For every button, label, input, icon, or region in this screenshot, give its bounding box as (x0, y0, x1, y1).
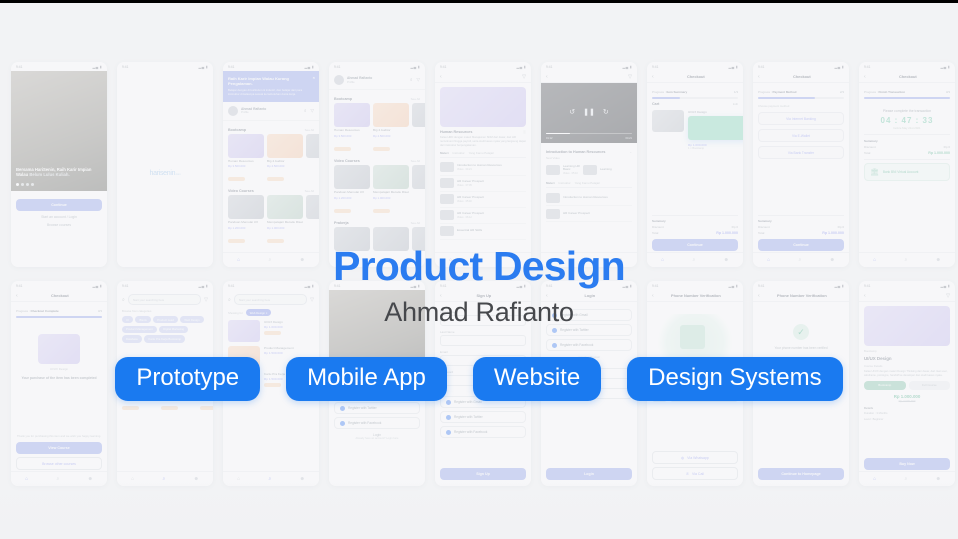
video-time-current: 01:12 (546, 137, 553, 140)
discount-label: Discount (652, 225, 664, 229)
login-link[interactable]: Start an account / Login (16, 215, 102, 219)
step-value: Checkout Complete (31, 309, 59, 313)
onboarding-hero: Bersama HariSenin, Raih Karir Impian Wal… (11, 71, 107, 191)
course-card[interactable]: Big 4 Auditor Rp 4.500.000 (267, 134, 303, 187)
video-time-total: 04:21 (626, 137, 633, 140)
chip-product-management[interactable]: Product Management (122, 326, 157, 333)
course-title: Human Resources (440, 130, 472, 134)
discount-value: Rp 0 (732, 225, 738, 229)
see-all-link[interactable]: See All (411, 221, 420, 225)
category-chip-list[interactable]: UI Bisnis Product Lead Web Design Produc… (122, 316, 208, 343)
cart-edit-link[interactable]: Edit (733, 102, 738, 106)
course-tag (228, 177, 245, 181)
course-title: Big 4 Auditor (267, 160, 303, 164)
browse-courses-button[interactable]: Browse other courses (16, 457, 102, 470)
user-name: Ahmad Rafianto (347, 76, 372, 80)
forward-10-icon[interactable]: ↻ (603, 108, 609, 116)
phone-mockup-video-player[interactable]: 9:41 ▂▄ ▮ ‹ ▽ ↺ ❚❚ ↻ 01:12 04:21 (541, 62, 637, 267)
lesson-meta: Video · 04:21 (457, 168, 502, 171)
tag-pill-design-systems[interactable]: Design Systems (627, 357, 842, 401)
nav-bar: ‹ ▽ (435, 71, 531, 83)
search-icon[interactable]: ⌕ (410, 77, 413, 83)
cart-icon[interactable]: ▽ (310, 297, 314, 303)
home-icon[interactable]: ⌂ (555, 257, 558, 263)
course-card[interactable]: Panduan Memulai UX Rp 1.200.000 (334, 165, 370, 218)
course-thumb (412, 165, 425, 189)
chip-bisnis[interactable]: Bisnis (135, 316, 150, 323)
profile-icon[interactable]: ☻ (724, 257, 729, 263)
status-bar: 9:41 ▂▄ ▮ (223, 281, 319, 290)
step-count: 1/3 (734, 90, 738, 94)
course-description: Kelas HRD dengan materi Manajemen SDM da… (440, 136, 526, 148)
caption-dim: Belum Lulus Kuliah. (29, 172, 69, 177)
course-card[interactable] (334, 227, 370, 251)
login-with-facebook-button[interactable]: Register with Facebook (546, 339, 632, 351)
chevron-left-icon[interactable]: ‹ (864, 293, 866, 299)
status-bar: 9:41 ▂▄ ▮ (541, 281, 637, 290)
chevron-left-icon[interactable]: ‹ (546, 74, 548, 80)
lesson-title: Introduction to Human Resources (457, 163, 502, 167)
tab-bar[interactable]: ⌂ ⌕ ☻ (223, 252, 319, 267)
section-title: Video Courses (334, 159, 360, 163)
profile-icon[interactable]: ☻ (618, 257, 623, 263)
tab-bar[interactable]: ⌂ ⌕ ☻ (753, 252, 849, 267)
phone-mockup-home-banner[interactable]: 9:41 ▂▄ ▮ × Raih Karir Impian Walau Kura… (223, 62, 319, 267)
course-tag (373, 209, 390, 213)
search-icon[interactable]: ⌕ (692, 257, 695, 263)
phone-mockup-checkout-countdown[interactable]: 9:41 ▂▄ ▮ ‹ Checkout Progress : Finish T… (859, 62, 955, 267)
discount-label: Discount (864, 145, 876, 149)
cart-item-title: UI/UX Design (688, 110, 743, 114)
course-card[interactable] (306, 134, 319, 187)
google-icon (552, 313, 557, 318)
lesson-item[interactable]: HR Career Prospect (546, 206, 632, 222)
continue-button[interactable]: Continue (16, 199, 102, 211)
status-icons: ▂▄ ▮ (93, 284, 103, 288)
profile-icon[interactable]: ☻ (936, 257, 941, 263)
profile-row[interactable]: Ahmad Rafianto Profile ⌕▽ (329, 71, 425, 90)
tag-pill-mobile-app[interactable]: Mobile App (286, 357, 447, 401)
step-label: Progress : (758, 90, 772, 94)
nav-title: Sign Up (442, 293, 526, 298)
course-title: Big 4 Auditor (373, 129, 409, 133)
lesson-item[interactable]: Essential HR Skills (440, 224, 526, 240)
status-bar: 9:41 ▂▄ ▮ (753, 62, 849, 71)
payment-option-ewallet[interactable]: Via E-Wallet (758, 129, 844, 142)
course-price: Rp 1.200.000 (334, 196, 370, 200)
cart-item-meta: 1 × Bootcamp (688, 147, 743, 151)
rewind-10-icon[interactable]: ↺ (569, 108, 575, 116)
search-icon[interactable]: ⌕ (304, 108, 307, 114)
section-header: Video Courses See All (334, 159, 420, 163)
phone-mockup-splash[interactable]: 9:41 ▂▄ ▮ harisenin.com (117, 62, 213, 267)
search-icon[interactable]: ⌕ (904, 257, 907, 263)
nav-title: Login (548, 293, 632, 298)
status-icons: ▂▄ ▮ (93, 65, 103, 69)
status-icons: ▂▄ ▮ (941, 65, 951, 69)
check-circle-icon: ✓ (793, 324, 809, 340)
tab-bar[interactable]: ⌂ ⌕ ☻ (859, 252, 955, 267)
summary-title-row: Summary (758, 219, 844, 223)
continue-button[interactable]: Continue (652, 239, 738, 251)
status-time: 9:41 (16, 284, 22, 288)
course-card[interactable]: Mempelajari Metode Riset Rp 1.000.000 (373, 165, 409, 218)
status-icons: ▂▄ ▮ (411, 284, 421, 288)
lesson-title: HR Career Prospect (457, 195, 484, 199)
progress-bar (16, 316, 102, 318)
course-price: Rp 4.500.000 (267, 164, 303, 168)
status-time: 9:41 (122, 65, 128, 69)
cart-icon[interactable]: ▽ (946, 293, 950, 299)
section-title: Video Courses (228, 189, 254, 193)
course-card[interactable]: Mempelajari Metode Riset Rp 1.000.000 (267, 195, 303, 248)
tab-yang-kamu-pelajari[interactable]: Yang Kamu Pelajari (469, 151, 494, 155)
course-price: Rp 4.500.000 (373, 134, 409, 138)
step-value: Finish Transaction (879, 90, 906, 94)
nav-bar: ‹ Phone Number Verification (647, 290, 743, 302)
course-price: Rp 3.500.000 (334, 134, 370, 138)
discount-row: DiscountRp 0 (652, 225, 738, 229)
status-icons: ▂▄ ▮ (517, 284, 527, 288)
status-bar: 9:41 ▂▄ ▮ (117, 62, 213, 71)
course-thumb (373, 103, 409, 127)
search-icon[interactable]: ⌕ (122, 297, 125, 303)
course-thumb (373, 227, 409, 251)
home-icon[interactable]: ⌂ (237, 257, 240, 263)
first-name-label: First Name (440, 310, 526, 314)
status-bar: 9:41 ▂▄ ▮ (329, 62, 425, 71)
nav-title: Checkout (654, 74, 738, 79)
lesson-item[interactable]: HR Career ProspectVideo · 05:40 (440, 192, 526, 208)
user-sub: Profile (241, 111, 266, 114)
status-bar: 9:41 ▂▄ ▮ (11, 62, 107, 71)
section-header: Bootcamp See All (334, 97, 420, 101)
phone-mockup-checkout-payment[interactable]: 9:41 ▂▄ ▮ ‹ Checkout Progress : Payment … (753, 62, 849, 267)
avatar (228, 106, 238, 116)
status-time: 9:41 (16, 65, 22, 69)
step-value: Payment Method (773, 90, 797, 94)
phone-mockup-course-detail[interactable]: 9:41 ▂▄ ▮ ‹ ▽ Human Resources ⓘ Kelas HR… (435, 62, 531, 267)
pause-icon[interactable]: ❚❚ (583, 108, 595, 116)
search-input[interactable]: Start your searching here (234, 294, 307, 305)
course-tag (267, 177, 284, 181)
status-icons: ▂▄ ▮ (411, 65, 421, 69)
status-icons: ▂▄ ▮ (729, 284, 739, 288)
lesson-title: Introduction to Human Resources (563, 195, 608, 199)
course-card[interactable] (412, 103, 425, 156)
lesson-thumb (440, 226, 454, 236)
cart-item[interactable]: UI/UX Design Rp 1.000.000 1 × Bootcamp (652, 110, 738, 151)
payment-option-bank-transfer[interactable]: Via Bank Transfer (758, 146, 844, 159)
video-thumb (546, 165, 560, 175)
status-icons: ▂▄ ▮ (623, 65, 633, 69)
status-icons: ▂▄ ▮ (623, 284, 633, 288)
status-time: 9:41 (652, 65, 658, 69)
nav-bar: ‹ Checkout (859, 71, 955, 83)
chip-product-lead[interactable]: Product Lead (153, 316, 178, 323)
result-row[interactable]: UI/UX Design Rp 1.000.000 (228, 320, 314, 342)
course-tabs[interactable]: Materi Instruktur Yang Kamu Pelajari (546, 181, 632, 188)
lesson-item[interactable]: HR Career ProspectVideo · 06:12 (440, 208, 526, 224)
onboarding-caption: Bersama HariSenin, Raih Karir Impian Wal… (16, 167, 102, 178)
progress-bar (652, 97, 738, 99)
status-time: 9:41 (758, 65, 764, 69)
avatar (334, 75, 344, 85)
cart-icon[interactable]: ▽ (417, 77, 420, 83)
register-with-twitter-button[interactable]: Register with Twitter (440, 411, 526, 423)
course-card[interactable]: Big 4 Auditor Rp 4.500.000 (373, 103, 409, 156)
details-label: Details (864, 406, 950, 410)
home-icon[interactable]: ⌂ (873, 257, 876, 263)
facebook-icon (340, 421, 345, 426)
lesson-thumb (546, 193, 560, 203)
course-thumb (267, 134, 303, 158)
buy-now-button[interactable]: Buy Now (864, 458, 950, 470)
course-tag (373, 147, 390, 151)
browse-categories-label: Browse from categories (122, 309, 208, 313)
search-icon[interactable]: ⌕ (798, 257, 801, 263)
total-value: Rp 1.000.000 (822, 231, 844, 235)
course-price: Rp 1.000.000 (373, 196, 409, 200)
first-name-field[interactable] (440, 315, 526, 326)
bank-account-box[interactable]: 🏛 Bank BNI Virtual Account (864, 163, 950, 181)
video-progress[interactable] (546, 133, 632, 135)
lesson-thumb (440, 210, 454, 220)
tag-pill-website[interactable]: Website (473, 357, 601, 401)
register-with-facebook-button[interactable]: Register with Facebook (334, 417, 420, 429)
last-name-field[interactable] (440, 335, 526, 346)
discount-value: Rp 0 (838, 225, 844, 229)
lesson-title: HR Career Prospect (457, 179, 484, 183)
checkout-step: Progress : Finish Transaction 3/3 (864, 90, 950, 94)
lesson-item[interactable]: HR Career ProspectVideo · 07:05 (440, 176, 526, 192)
whatsapp-icon: ◍ (681, 456, 684, 460)
discount-label: Discount (758, 225, 770, 229)
status-time: 9:41 (334, 65, 340, 69)
status-icons: ▂▄ ▮ (941, 284, 951, 288)
step-value: Item Summary (667, 90, 688, 94)
chip-digital-marketing[interactable]: Digital Marketing (159, 326, 188, 333)
step-count: 2/3 (840, 90, 844, 94)
next-video-card[interactable]: Learning (583, 162, 617, 178)
detail-duration: Duration : 3 Months (864, 412, 950, 416)
tab-instruktur[interactable]: Instruktur (559, 181, 571, 185)
search-row[interactable]: ⌕ Start your searching here ▽ (223, 290, 319, 309)
status-time: 9:41 (228, 65, 234, 69)
result-title: Product Management (264, 346, 294, 350)
step-label: Progress : (652, 90, 666, 94)
checkout-step: Progress : Checkout Complete 3/3 (16, 309, 102, 313)
discount-value: Rp 0 (944, 145, 950, 149)
course-title: Panduan Memulai UX (334, 191, 370, 195)
tab-instruktur[interactable]: Instruktur (453, 151, 465, 155)
tag-pill-row: Prototype Mobile App Website Design Syst… (0, 357, 958, 401)
status-time: 9:41 (440, 65, 446, 69)
via-whatsapp-button[interactable]: ◍ Via Whatsapp (652, 451, 738, 464)
tab-bar[interactable]: ⌂ ⌕ ☻ (647, 252, 743, 267)
register-with-facebook-button[interactable]: Register with Facebook (440, 426, 526, 438)
phone-icon: ✆ (686, 472, 689, 476)
section-header: Bootcamp See All (228, 128, 314, 132)
nav-title: Checkout (866, 74, 950, 79)
lesson-title: HR Career Prospect (563, 211, 590, 215)
step-count: 3/3 (946, 90, 950, 94)
course-thumb (334, 165, 370, 189)
status-bar: 9:41 ▂▄ ▮ (647, 62, 743, 71)
browse-link[interactable]: Browse courses (16, 223, 102, 227)
see-all-link[interactable]: See All (305, 189, 314, 193)
tab-bar[interactable]: ⌂ ⌕ ☻ (435, 252, 531, 267)
login-with-twitter-button[interactable]: Register with Twitter (546, 324, 632, 336)
profile-row[interactable]: Ahmad Rafianto Profile ⌕▽ (223, 102, 319, 121)
register-with-twitter-button[interactable]: Register with Twitter (334, 402, 420, 414)
course-title: Human Resources (334, 129, 370, 133)
last-name-label: Last Name (440, 330, 526, 334)
choose-payment-label: Choose payment method (758, 104, 844, 108)
status-bar: 9:41 ▂▄ ▮ (859, 281, 955, 290)
tab-bar[interactable]: ⌂ ⌕ ☻ (541, 252, 637, 267)
summary-title: Summary (652, 219, 666, 223)
status-bar: 9:41 ▂▄ ▮ (435, 281, 531, 290)
course-card[interactable] (306, 195, 319, 248)
nav-bar: ‹ ▽ (541, 71, 637, 83)
total-row: TotalRp 1.000.000 (758, 231, 844, 235)
next-video-title: Learning HR Basic (563, 164, 580, 172)
course-card[interactable] (373, 227, 409, 251)
lesson-thumb (440, 162, 454, 172)
video-title-row: Introduction to Human Resources ⌄ (546, 150, 632, 154)
course-thumb (334, 103, 370, 127)
search-icon[interactable]: ⌕ (228, 297, 231, 303)
course-hero-image (440, 87, 526, 127)
status-icons: ▂▄ ▮ (517, 65, 527, 69)
login-with-gmail-button[interactable]: Register with Gmail (546, 309, 632, 321)
tab-materi[interactable]: Materi (440, 151, 449, 155)
filter-chip[interactable]: Web Design × (246, 309, 272, 316)
lesson-title: HR Career Prospect (457, 211, 484, 215)
course-card[interactable]: Panduan Memulai UX Rp 1.200.000 (228, 195, 264, 248)
course-tag (334, 147, 351, 151)
cart-icon[interactable]: ▽ (628, 74, 632, 80)
tab-yang-kamu-pelajari[interactable]: Yang Kamu Pelajari (575, 181, 600, 185)
course-thumb (334, 227, 370, 251)
lesson-item[interactable]: Introduction to Human Resources (546, 190, 632, 206)
see-all-link[interactable]: See All (411, 159, 420, 163)
status-time: 9:41 (122, 284, 128, 288)
chip-web-design[interactable]: Web Design (180, 316, 203, 323)
course-card[interactable] (412, 165, 425, 218)
next-video-label: Next Video (546, 156, 632, 160)
bank-label: Bank BNI Virtual Account (883, 170, 919, 174)
lesson-title: Essential HR Skills (457, 228, 482, 232)
chip-kartu-pra-kerja-bootcamp[interactable]: Kartu Pra Kerja Bootcamp (144, 335, 185, 342)
section-title: Bootcamp (228, 128, 246, 132)
status-time: 9:41 (864, 65, 870, 69)
lesson-thumb (440, 178, 454, 188)
lesson-meta: Video · 07:05 (457, 184, 484, 187)
section-title: Prakerja (334, 221, 349, 225)
course-tabs[interactable]: Materi Instruktur Yang Kamu Pelajari (440, 151, 526, 158)
course-title: Mempelajari Metode Riset (267, 221, 303, 225)
chip-ui[interactable]: UI (122, 316, 133, 323)
search-icon[interactable]: ⌕ (268, 257, 271, 263)
video-surface[interactable]: ↺ ❚❚ ↻ 01:12 04:21 (541, 83, 637, 143)
nav-title: Checkout (18, 293, 102, 298)
home-icon[interactable]: ⌂ (661, 257, 664, 263)
phone-mockup-onboarding[interactable]: 9:41 ▂▄ ▮ Bersama HariSenin, Raih Karir … (11, 62, 107, 267)
discount-row: DiscountRp 0 (758, 225, 844, 229)
course-title-row: Human Resources ⓘ (440, 130, 526, 134)
home-icon[interactable]: ⌂ (449, 257, 452, 263)
continue-button[interactable]: Continue (758, 239, 844, 251)
status-icons: ▂▄ ▮ (199, 284, 209, 288)
video-thumb (583, 165, 597, 175)
payment-option-internet-banking[interactable]: Via Internet Banking (758, 112, 844, 125)
product-category: Bootcamp (864, 349, 950, 353)
course-tag (228, 239, 245, 243)
status-time: 9:41 (334, 284, 340, 288)
chip-database[interactable]: Database (122, 335, 142, 342)
cart-icon[interactable]: ▽ (204, 297, 208, 303)
view-course-button[interactable]: View Course (16, 442, 102, 454)
cart-icon[interactable]: ▽ (311, 108, 314, 114)
search-icon[interactable]: ⌕ (480, 257, 483, 263)
twitter-icon (340, 406, 345, 411)
verified-headline: Your phone number has been verified (758, 346, 844, 351)
course-card[interactable] (412, 227, 425, 251)
profile-icon[interactable]: ☻ (830, 257, 835, 263)
chevron-down-icon[interactable]: ⌄ (629, 150, 632, 154)
discount-row: DiscountRp 0 (864, 145, 950, 149)
lesson-item[interactable]: Introduction to Human ResourcesVideo · 0… (440, 160, 526, 176)
status-time: 9:41 (864, 284, 870, 288)
search-input[interactable]: Start your searching here (128, 294, 201, 305)
status-time: 9:41 (758, 284, 764, 288)
phone-mockup-checkout-cart[interactable]: 9:41 ▂▄ ▮ ‹ Checkout Progress : Item Sum… (647, 62, 743, 267)
total-value: Rp 1.000.000 (716, 231, 738, 235)
next-video-card[interactable]: Learning HR BasicVideo · 05:10 (546, 162, 580, 178)
search-row[interactable]: ⌕ Start your searching here ▽ (117, 290, 213, 309)
profile-icon[interactable]: ☻ (300, 257, 305, 263)
see-all-link[interactable]: See All (305, 128, 314, 132)
see-all-link[interactable]: See All (411, 97, 420, 101)
phone-mockup-grid: 9:41 ▂▄ ▮ Bersama HariSenin, Raih Karir … (0, 0, 958, 539)
tab-materi[interactable]: Materi (546, 181, 555, 185)
search-icon[interactable]: ⌕ (586, 257, 589, 263)
tag-pill-prototype[interactable]: Prototype (115, 357, 260, 401)
close-icon[interactable]: × (313, 75, 315, 80)
course-card[interactable]: Human Resources Rp 3.500.000 (228, 134, 264, 187)
status-icons: ▂▄ ▮ (305, 284, 315, 288)
phone-mockup-home-feed[interactable]: 9:41 ▂▄ ▮ Ahmad Rafianto Profile ⌕▽ Boot… (329, 62, 425, 267)
cart-item-thumb (652, 110, 684, 132)
course-thumb (228, 134, 264, 158)
course-card[interactable]: Human Resources Rp 3.500.000 (334, 103, 370, 156)
cart-icon[interactable]: ▽ (522, 74, 526, 80)
status-bar: 9:41 ▂▄ ▮ (329, 281, 425, 290)
carousel-dots[interactable] (16, 183, 34, 186)
course-tag (267, 239, 284, 243)
summary-title: Summary (864, 139, 878, 143)
info-icon[interactable]: ⓘ (523, 130, 526, 134)
chevron-left-icon[interactable]: ‹ (440, 74, 442, 80)
profile-icon[interactable]: ☻ (512, 257, 517, 263)
twitter-icon (552, 328, 557, 333)
course-title: Human Resources (228, 160, 264, 164)
status-time: 9:41 (652, 284, 658, 288)
clear-filter-icon[interactable]: × (266, 311, 268, 315)
home-icon[interactable]: ⌂ (767, 257, 770, 263)
